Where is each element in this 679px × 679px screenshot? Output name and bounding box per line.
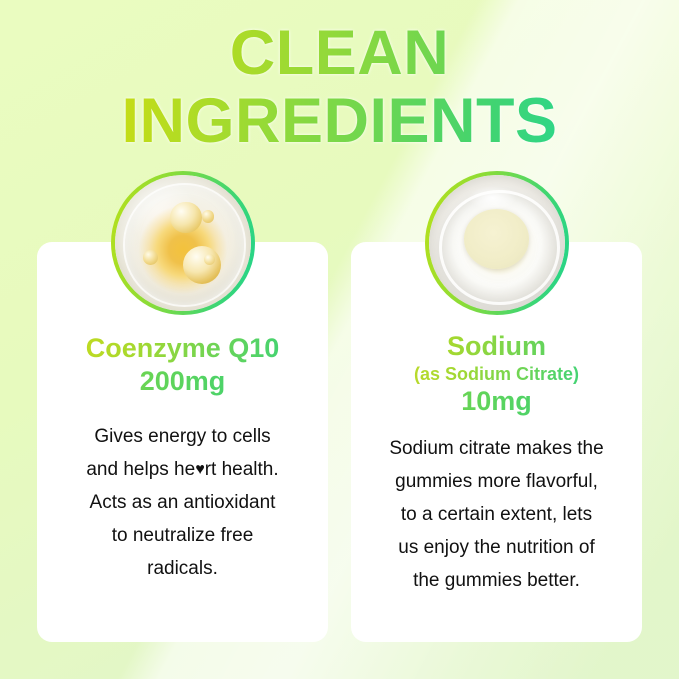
description-line: radicals. [147, 558, 218, 579]
description-line-part: and helps he [86, 459, 195, 480]
description-line: Gives energy to cells [94, 426, 270, 447]
description-line: to neutralize free [112, 525, 254, 546]
oil-droplet-circle-icon [111, 171, 255, 315]
ingredient-name: Sodium [365, 330, 628, 363]
description-line: Sodium citrate makes the [389, 438, 603, 459]
ingredient-heading-group: Sodium (as Sodium Citrate) 10mg [365, 330, 628, 418]
oil-droplet-image [115, 175, 251, 311]
description-line: the gummies better. [413, 570, 580, 591]
description-line-part: rt health. [205, 459, 279, 480]
ingredient-description: Sodium citrate makes the gummies more fl… [367, 432, 627, 597]
powder-mound [464, 209, 529, 269]
ingredient-dose: 200mg [51, 365, 314, 398]
ingredient-heading-group: Coenzyme Q10 200mg [51, 332, 314, 398]
title-line-ingredients: INGREDIENTS [0, 86, 679, 156]
ingredient-card-sodium: Sodium (as Sodium Citrate) 10mg Sodium c… [351, 242, 642, 642]
ingredient-name: Coenzyme Q10 [51, 332, 314, 365]
poster-title: CLEAN INGREDIENTS [0, 20, 679, 156]
ingredient-subtitle: (as Sodium Citrate) [365, 363, 628, 385]
ingredient-card-coenzyme-q10: Coenzyme Q10 200mg Gives energy to cells… [37, 242, 328, 642]
heart-icon: ♥ [195, 461, 205, 478]
glass-sphere-highlight [123, 183, 247, 307]
description-line: gummies more flavorful, [395, 471, 598, 492]
ingredient-cards: Coenzyme Q10 200mg Gives energy to cells… [37, 242, 642, 642]
description-line: us enjoy the nutrition of [398, 537, 594, 558]
white-powder-bowl-circle-icon [425, 171, 569, 315]
title-line-clean: CLEAN [0, 20, 679, 86]
powder-bowl-image [429, 175, 565, 311]
clean-ingredients-poster: CLEAN INGREDIENTS Coenzyme Q10 200mg [0, 0, 679, 679]
ingredient-description: Gives energy to cells and helps he♥rt he… [55, 420, 310, 585]
description-line: Acts as an antioxidant [90, 492, 276, 513]
ingredient-dose: 10mg [365, 385, 628, 418]
description-line: to a certain extent, lets [401, 504, 592, 525]
